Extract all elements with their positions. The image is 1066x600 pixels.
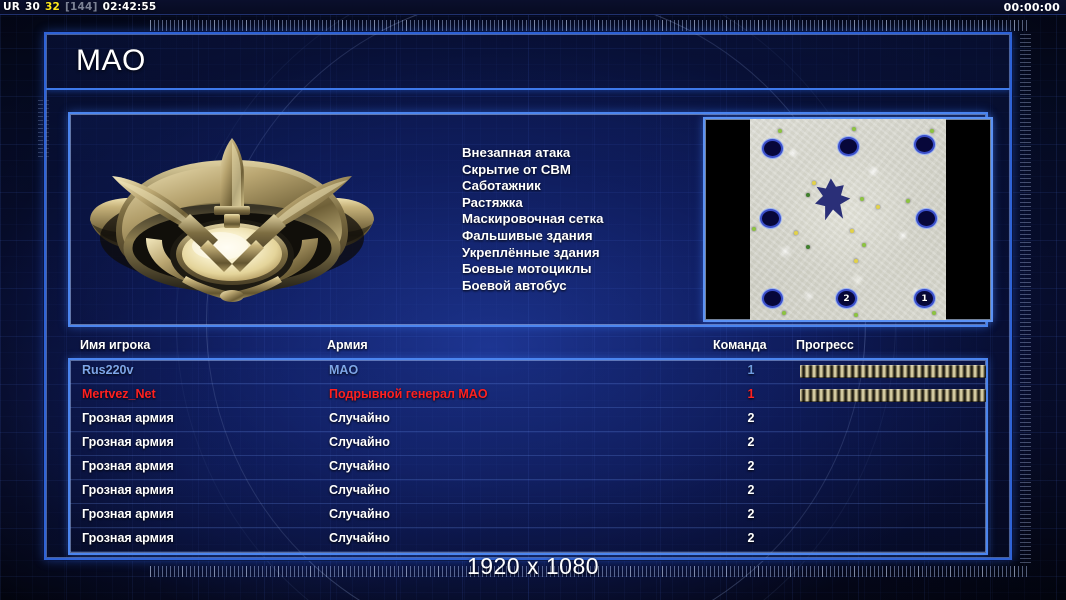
status-value-1: 30 bbox=[25, 1, 40, 13]
tech-building-icon bbox=[854, 313, 858, 317]
player-army: Подрывной генерал MAO bbox=[329, 387, 488, 401]
general-emblem bbox=[82, 128, 382, 318]
player-progress bbox=[800, 437, 986, 450]
spawn-point bbox=[764, 141, 781, 156]
tech-building-icon bbox=[852, 127, 856, 131]
tech-building-icon bbox=[876, 205, 880, 209]
tech-building-icon bbox=[862, 243, 866, 247]
tech-building-icon bbox=[752, 227, 756, 231]
player-name: Грозная армия bbox=[82, 435, 174, 449]
player-army: Случайно bbox=[329, 435, 390, 449]
tech-building-icon bbox=[906, 199, 910, 203]
tech-building-icon bbox=[794, 231, 798, 235]
player-team: 2 bbox=[743, 531, 759, 545]
header-team: Команда bbox=[713, 338, 767, 352]
ability-item: Саботажник bbox=[462, 178, 692, 195]
player-army: Случайно bbox=[329, 531, 390, 545]
tech-building-icon bbox=[806, 245, 810, 249]
tech-building-icon bbox=[860, 197, 864, 201]
player-name: Грозная армия bbox=[82, 507, 174, 521]
ability-item: Маскировочная сетка bbox=[462, 211, 692, 228]
resolution-label: 1920 x 1080 bbox=[0, 553, 1066, 580]
mao-emblem-icon bbox=[82, 128, 382, 318]
player-name: Грозная армия bbox=[82, 483, 174, 497]
player-rows-container: Rus220vMAO1Mertvez_NetПодрывной генерал … bbox=[70, 360, 986, 553]
spawn-point bbox=[764, 291, 781, 306]
table-row[interactable]: Грозная армияСлучайно2 bbox=[70, 432, 986, 456]
ability-item: Растяжка bbox=[462, 195, 692, 212]
player-name: Грозная армия bbox=[82, 531, 174, 545]
player-team: 2 bbox=[743, 483, 759, 497]
tech-building-icon bbox=[782, 311, 786, 315]
player-army: Случайно bbox=[329, 507, 390, 521]
tech-building-icon bbox=[854, 259, 858, 263]
tech-building-icon bbox=[850, 229, 854, 233]
player-team: 2 bbox=[743, 435, 759, 449]
tech-building-icon bbox=[806, 193, 810, 197]
spawn-point bbox=[916, 137, 933, 152]
player-army: Случайно bbox=[329, 411, 390, 425]
table-row[interactable]: Грозная армияСлучайно2 bbox=[70, 504, 986, 528]
tech-building-icon bbox=[932, 311, 936, 315]
ability-item: Укреплённые здания bbox=[462, 245, 692, 262]
tech-building-icon bbox=[812, 181, 816, 185]
header-army: Армия bbox=[327, 338, 368, 352]
table-row[interactable]: Грозная армияСлучайно2 bbox=[70, 408, 986, 432]
status-label: UR bbox=[3, 1, 20, 13]
spawn-point-2: 2 bbox=[838, 291, 855, 306]
title-bar: MAO bbox=[46, 34, 1010, 90]
ability-item: Фальшивые здания bbox=[462, 228, 692, 245]
player-team: 2 bbox=[743, 507, 759, 521]
map-preview[interactable]: 2 1 bbox=[703, 117, 993, 322]
spawn-point-1: 1 bbox=[916, 291, 933, 306]
player-progress bbox=[800, 509, 986, 522]
player-team: 2 bbox=[743, 459, 759, 473]
tech-building-icon bbox=[930, 129, 934, 133]
tech-building-icon bbox=[778, 129, 782, 133]
page-title: MAO bbox=[76, 44, 146, 78]
status-clock: 02:42:55 bbox=[103, 1, 157, 13]
spawn-point bbox=[840, 139, 857, 154]
player-name: Rus220v bbox=[82, 363, 133, 377]
player-progress bbox=[800, 533, 986, 546]
spawn-point bbox=[918, 211, 935, 226]
ability-item: Боевой автобус bbox=[462, 278, 692, 295]
ability-item: Скрытие от СВМ bbox=[462, 162, 692, 179]
player-table-header: Имя игрока Армия Команда Прогресс bbox=[68, 338, 988, 356]
general-abilities-list: Внезапная атака Скрытие от СВМ Саботажни… bbox=[462, 145, 692, 294]
map-preview-image: 2 1 bbox=[750, 119, 946, 320]
player-army: Случайно bbox=[329, 459, 390, 473]
player-team: 2 bbox=[743, 411, 759, 425]
progress-bar bbox=[800, 365, 986, 378]
spawn-point bbox=[762, 211, 779, 226]
table-row[interactable]: Rus220vMAO1 bbox=[70, 360, 986, 384]
ability-item: Боевые мотоциклы bbox=[462, 261, 692, 278]
player-progress bbox=[800, 413, 986, 426]
player-army: Случайно bbox=[329, 483, 390, 497]
table-row[interactable]: Грозная армияСлучайно2 bbox=[70, 528, 986, 552]
ruler-right-icon bbox=[1020, 34, 1031, 564]
player-team: 1 bbox=[743, 387, 759, 401]
table-row[interactable]: Грозная армияСлучайно2 bbox=[70, 480, 986, 504]
player-name: Грозная армия bbox=[82, 459, 174, 473]
header-progress: Прогресс bbox=[796, 338, 854, 352]
ability-item: Внезапная атака bbox=[462, 145, 692, 162]
player-progress bbox=[800, 389, 986, 402]
player-progress bbox=[800, 365, 986, 378]
status-bracket: [144] bbox=[65, 1, 98, 13]
header-player-name: Имя игрока bbox=[80, 338, 150, 352]
ruler-top-icon bbox=[150, 20, 1030, 31]
player-name: Грозная армия bbox=[82, 411, 174, 425]
player-name: Mertvez_Net bbox=[82, 387, 156, 401]
player-team: 1 bbox=[743, 363, 759, 377]
progress-bar bbox=[800, 389, 986, 402]
player-progress bbox=[800, 485, 986, 498]
player-army: MAO bbox=[329, 363, 358, 377]
map-center-feature bbox=[814, 178, 850, 220]
player-progress bbox=[800, 461, 986, 474]
table-row[interactable]: Грозная армияСлучайно2 bbox=[70, 456, 986, 480]
table-row[interactable]: Mertvez_NetПодрывной генерал MAO1 bbox=[70, 384, 986, 408]
status-timer-right: 00:00:00 bbox=[1004, 1, 1060, 14]
status-value-2: 32 bbox=[45, 1, 60, 13]
status-left-group: UR 30 32 [144] 02:42:55 bbox=[3, 1, 156, 13]
top-status-bar: UR 30 32 [144] 02:42:55 00:00:00 bbox=[0, 0, 1066, 15]
